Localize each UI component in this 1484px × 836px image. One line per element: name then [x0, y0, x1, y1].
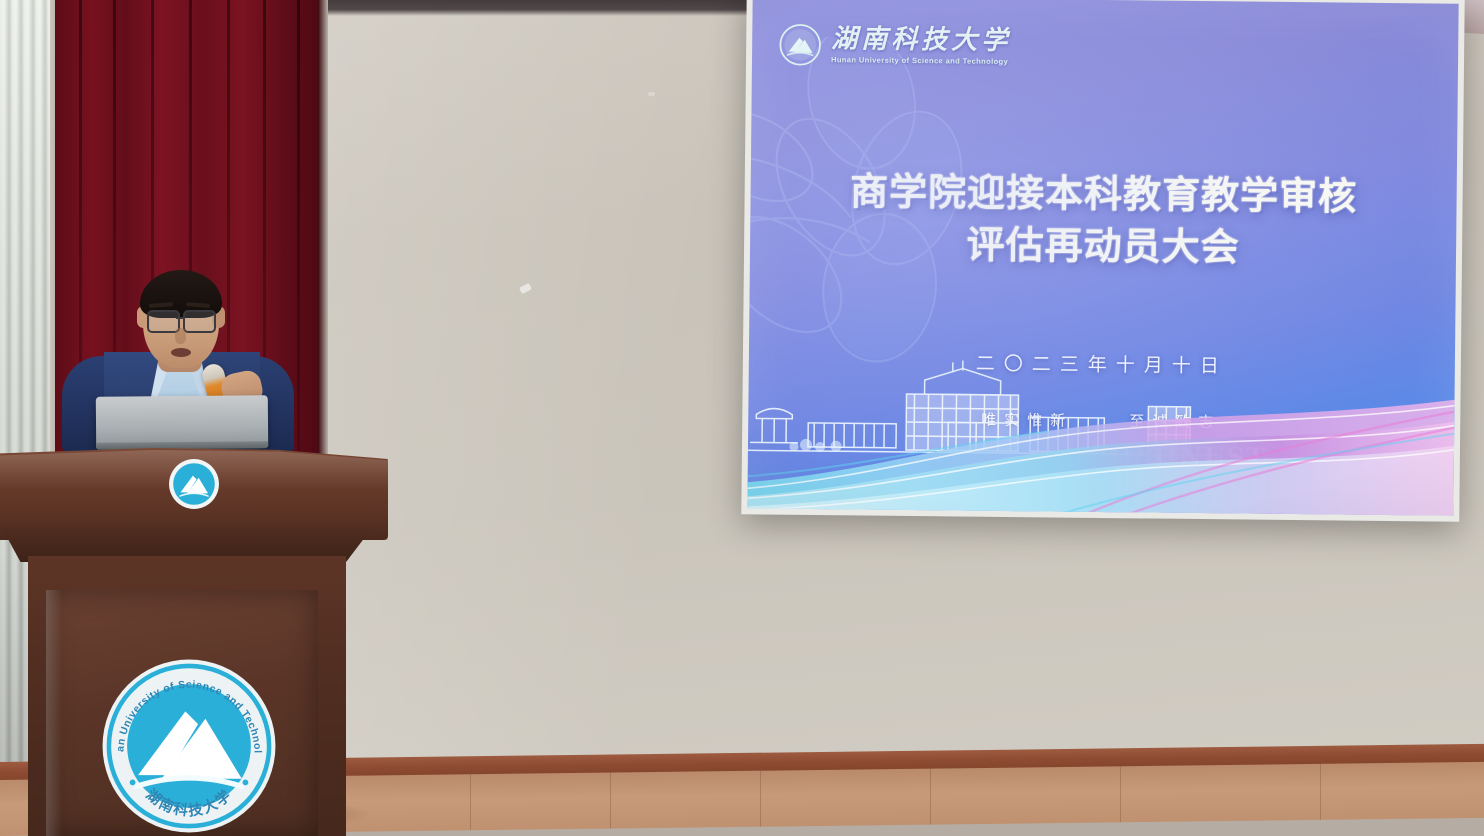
wave-ribbons-graphic: [747, 364, 1454, 515]
screenshot-root: 湖南科技大学 Hunan University of Science and T…: [0, 0, 1484, 836]
podium-front-emblem: Hunan University of Science and Technolo…: [98, 655, 280, 836]
speaker-nose: [175, 328, 186, 344]
slide-logo-english-name: Hunan University of Science and Technolo…: [831, 56, 1011, 65]
speaker-glasses-bridge: [176, 317, 185, 319]
slide-title-line1: 商学院迎接本科教育教学审核: [850, 169, 1357, 218]
slide-logo-chinese-name: 湖南科技大学: [831, 26, 1011, 54]
speaker-glasses-right-lens: [183, 310, 216, 333]
podium-top-emblem-icon: [168, 458, 220, 510]
slide-title-line2: 评估再动员大会: [750, 217, 1457, 277]
wall-mark: [648, 92, 655, 96]
podium-panel-highlight: [46, 590, 62, 836]
curtain-right-edge: [318, 0, 328, 466]
wall-light-sheen: [320, 0, 800, 790]
mountain-emblem-icon: [778, 23, 822, 67]
speaker-mouth: [171, 348, 191, 357]
slide-university-logo: 湖南科技大学 Hunan University of Science and T…: [778, 23, 1011, 69]
slide-title: 商学院迎接本科教育教学审核 评估再动员大会: [750, 164, 1457, 276]
projection-screen: 湖南科技大学 Hunan University of Science and T…: [747, 0, 1458, 516]
